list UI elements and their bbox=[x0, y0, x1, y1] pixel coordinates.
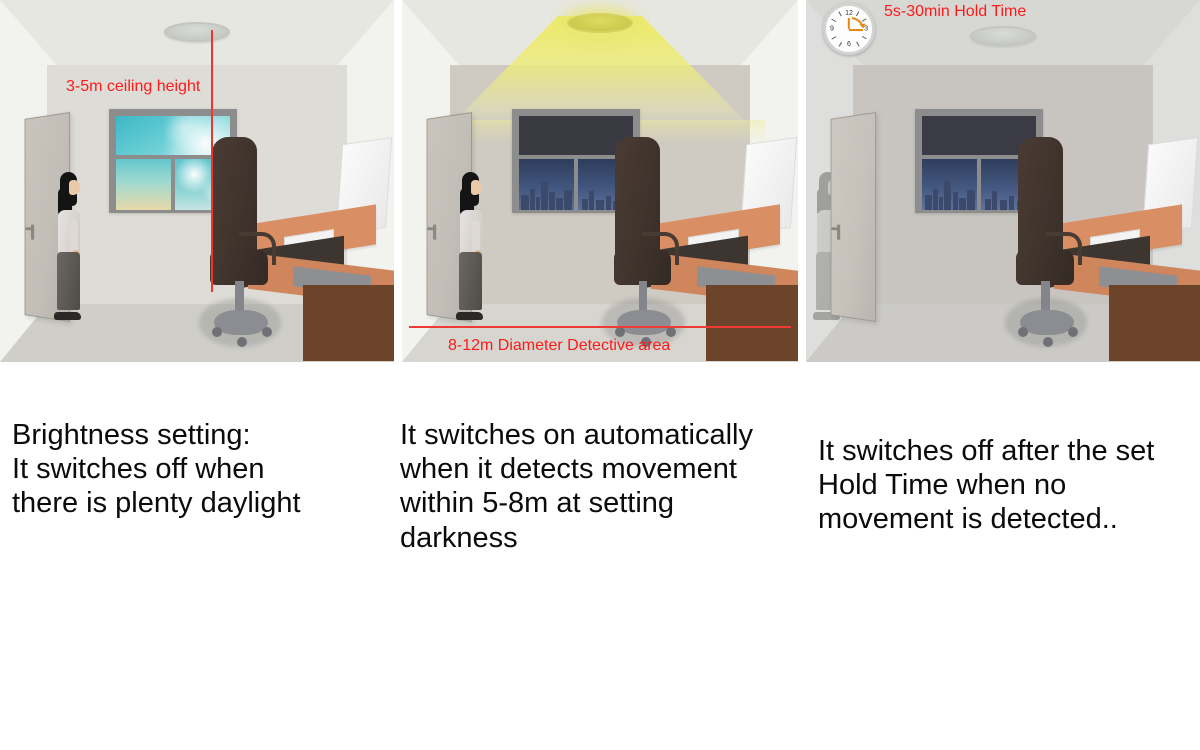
desk-cabinet bbox=[303, 285, 394, 361]
door-closed bbox=[830, 112, 875, 322]
desk-group bbox=[568, 123, 798, 347]
person-face bbox=[69, 180, 80, 195]
clock-icon: 12 3 6 9 bbox=[823, 3, 875, 55]
door-handle-icon bbox=[433, 225, 436, 240]
chair-base bbox=[1020, 310, 1074, 335]
ceiling-lamp-off bbox=[970, 26, 1036, 46]
detective-area-measure-line bbox=[409, 326, 791, 328]
diagram-stage: 3-5m ceiling height bbox=[0, 0, 1200, 750]
desk-cabinet bbox=[1109, 285, 1200, 361]
caption-hold-time-off: It switches off after the set Hold Time … bbox=[818, 434, 1198, 537]
caption-motion-detected-on: It switches on automatically when it det… bbox=[400, 418, 795, 555]
person-standing bbox=[453, 172, 491, 322]
door-handle-icon bbox=[31, 225, 34, 240]
ceiling bbox=[402, 0, 798, 72]
person-standing bbox=[51, 172, 89, 322]
person-arm bbox=[472, 220, 480, 254]
window-pane-bottom-left bbox=[116, 159, 171, 209]
panel-motion-detected-on bbox=[402, 0, 798, 362]
hold-time-label: 5s-30min Hold Time bbox=[884, 3, 1026, 21]
window-pane-bottom-left bbox=[519, 159, 574, 209]
office-chair bbox=[610, 137, 706, 343]
room-scene-night-lit bbox=[402, 0, 798, 362]
chair-caster bbox=[1018, 327, 1028, 337]
window-pane-bottom-left bbox=[922, 159, 977, 209]
panel-daylight-off: 3-5m ceiling height bbox=[0, 0, 394, 362]
person-arm bbox=[70, 220, 78, 254]
person-shoe bbox=[456, 312, 483, 320]
chair-base bbox=[617, 310, 671, 335]
office-chair bbox=[1013, 137, 1109, 343]
desk-group bbox=[971, 123, 1200, 347]
chair-caster bbox=[666, 327, 676, 337]
office-chair bbox=[207, 137, 303, 343]
chair-caster bbox=[615, 327, 625, 337]
desk-group bbox=[165, 123, 394, 347]
chair-seat bbox=[1016, 250, 1074, 285]
chair-base bbox=[214, 310, 268, 335]
city-skyline bbox=[519, 178, 574, 209]
ceiling-lamp-on bbox=[567, 13, 633, 33]
ceiling-height-label: 3-5m ceiling height bbox=[66, 78, 200, 96]
person-face bbox=[471, 180, 482, 195]
desk-cabinet bbox=[706, 285, 798, 361]
ceiling-height-measure-line bbox=[211, 30, 213, 292]
chair-caster bbox=[1068, 327, 1078, 337]
ceiling-lamp-off bbox=[164, 22, 230, 42]
person-shoe bbox=[54, 312, 81, 320]
chair-seat bbox=[210, 250, 268, 285]
chair-seat bbox=[614, 250, 672, 285]
city-skyline bbox=[922, 178, 977, 209]
caption-daylight-off: Brightness setting: It switches off when… bbox=[12, 418, 392, 521]
person-legs bbox=[459, 252, 482, 310]
door-handle-icon bbox=[837, 225, 840, 240]
detective-area-label: 8-12m Diameter Detective area bbox=[448, 337, 670, 355]
room-scene-day bbox=[0, 0, 394, 362]
chair-caster bbox=[262, 327, 272, 337]
person-legs bbox=[57, 252, 80, 310]
clock-sweep-arrow-icon bbox=[826, 6, 878, 58]
chair-caster bbox=[212, 327, 222, 337]
